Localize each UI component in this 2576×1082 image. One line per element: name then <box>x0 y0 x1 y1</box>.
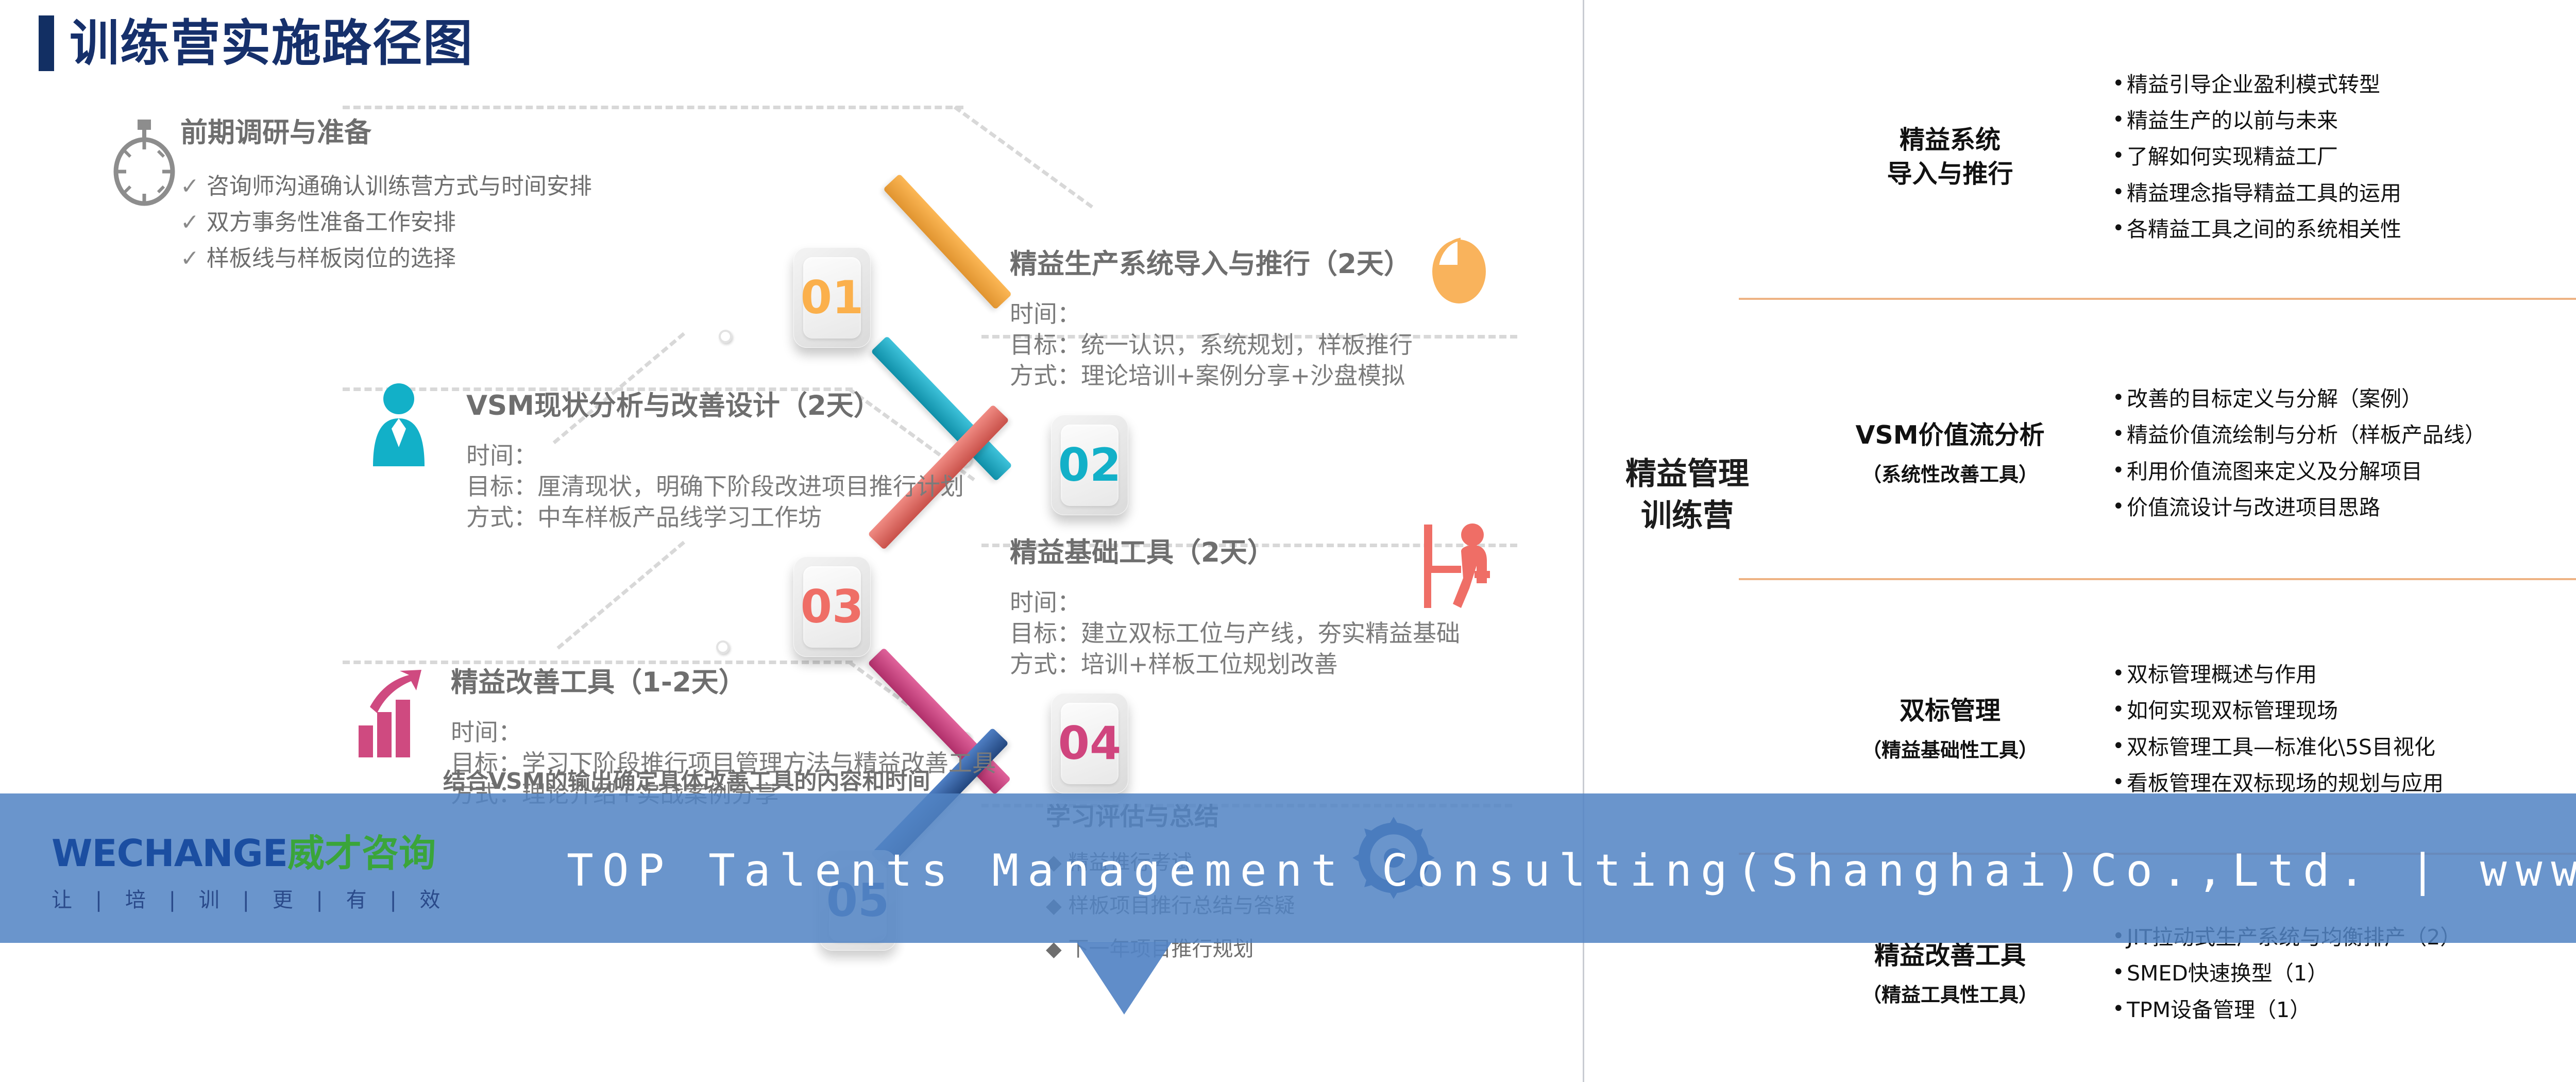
bar-growth-icon <box>355 670 433 760</box>
point-item: •了解如何实现精益工厂 <box>2112 144 2576 170</box>
step-01-heading: 精益生产系统导入与推行（2天） <box>1010 242 1413 281</box>
table-row[interactable]: 精益系统 导入与推行 •精益引导企业盈利模式转型 •精益生产的以前与未来 •了解… <box>1788 21 2576 294</box>
point-item: •精益生产的以前与未来 <box>2112 108 2576 133</box>
step-tile-02[interactable]: 02 <box>1051 415 1128 515</box>
logo-cn: 威才咨询 <box>287 832 436 875</box>
logo-wordmark: WECHANGE威才咨询 <box>52 835 449 872</box>
dashed-connector-0 <box>343 106 963 109</box>
step-04-note: 结合VSM的输出确定具体改善工具的内容和时间 <box>443 763 930 796</box>
row-points: •精益引导企业盈利模式转型 •精益生产的以前与未来 •了解如何实现精益工厂 •精… <box>2112 61 2576 253</box>
section-label-line1: 精益管理 <box>1602 453 1772 495</box>
ribbon-orange-top <box>883 174 1012 310</box>
section-label-line2: 训练营 <box>1602 495 1772 537</box>
point-item: •双标管理工具—标准化\5S目视化 <box>2112 735 2576 760</box>
title-accent-bar <box>39 15 54 71</box>
connector-dot-3 <box>716 640 730 654</box>
row-points: •改善的目标定义与分解（案例） •精益价值流绘制与分析（样板产品线） •利用价值… <box>2112 376 2576 531</box>
step-02-goal: 目标：厘清现状，明确下阶段改进项目推行计划 <box>466 471 964 502</box>
point-item: •TPM设备管理（1） <box>2112 998 2576 1023</box>
row-topic: 精益改善工具 （精益工具性工具） <box>1788 939 2112 1008</box>
step-prepare[interactable]: 前期调研与准备 ✓ 咨询师沟通确认训练营方式与时间安排 ✓ 双方事务性准备工作安… <box>180 111 592 273</box>
step-prepare-check-0: ✓ 咨询师沟通确认训练营方式与时间安排 <box>180 167 592 200</box>
step-03[interactable]: 精益基础工具（2天） 时间： 目标：建立双标工位与产线，夯实精益基础 方式：培训… <box>1010 531 1460 680</box>
step-number-03: 03 <box>801 584 863 630</box>
section-label: 精益管理 训练营 <box>1602 453 1772 537</box>
banner-text: TOP Talents Management Consulting(Shangh… <box>567 845 2576 897</box>
page-title: 训练营实施路径图 <box>39 15 473 71</box>
step-tile-01[interactable]: 01 <box>793 247 871 348</box>
step-prepare-heading: 前期调研与准备 <box>180 111 592 150</box>
company-logo[interactable]: WECHANGE威才咨询 让 | 培 | 训 | 更 | 有 | 效 <box>52 835 449 913</box>
pie-chart-icon <box>1427 234 1492 317</box>
point-item: •精益价值流绘制与分析（样板产品线） <box>2112 422 2576 448</box>
row-points: •双标管理概述与作用 •如何实现双标管理现场 •双标管理工具—标准化\5S目视化… <box>2112 651 2576 807</box>
step-02-time: 时间： <box>466 441 964 471</box>
page-title-text: 训练营实施路径图 <box>70 19 473 68</box>
step-01-goal: 目标：统一认识，系统规划，样板推行 <box>1010 330 1413 361</box>
step-03-method: 方式：培训+样板工位规划改善 <box>1010 649 1460 680</box>
step-number-04: 04 <box>1058 721 1121 766</box>
step-tile-03[interactable]: 03 <box>793 556 871 657</box>
step-tile-04[interactable]: 04 <box>1051 693 1128 793</box>
row-topic: VSM价值流分析 （系统性改善工具） <box>1788 418 2112 488</box>
step-01[interactable]: 精益生产系统导入与推行（2天） 时间： 目标：统一认识，系统规划，样板推行 方式… <box>1010 242 1413 391</box>
row-topic-line1: 精益系统 <box>1900 125 2001 155</box>
row-divider <box>1739 298 2576 300</box>
logo-en: WECHANGE <box>52 832 287 875</box>
person-icon <box>367 381 431 466</box>
dashed-connector-3b <box>556 541 685 650</box>
stopwatch-icon <box>111 117 178 210</box>
step-02-heading: VSM现状分析与改善设计（2天） <box>466 384 964 423</box>
point-item: •双标管理概述与作用 <box>2112 662 2576 687</box>
slide-canvas: 训练营实施路径图 前期调研与准备 ✓ 咨询师沟通确认训练营方式与时间安 <box>0 0 2576 1082</box>
worker-icon <box>1421 521 1496 612</box>
step-02[interactable]: VSM现状分析与改善设计（2天） 时间： 目标：厘清现状，明确下阶段改进项目推行… <box>466 384 964 533</box>
row-topic-sub: （精益工具性工具） <box>1788 982 2112 1008</box>
point-item: •改善的目标定义与分解（案例） <box>2112 386 2576 412</box>
connector-dot-1 <box>719 330 732 343</box>
step-number-01: 01 <box>801 275 863 320</box>
row-divider <box>1739 578 2576 580</box>
step-03-heading: 精益基础工具（2天） <box>1010 531 1460 570</box>
step-01-time: 时间： <box>1010 299 1413 330</box>
banner-pointer <box>1077 942 1172 1015</box>
point-item: •看板管理在双标现场的规划与应用 <box>2112 771 2576 796</box>
row-topic-line1: 精益改善工具 <box>1874 941 2026 970</box>
step-01-method: 方式：理论培训+案例分享+沙盘模拟 <box>1010 361 1413 392</box>
row-topic-line1: 双标管理 <box>1900 696 2001 725</box>
point-item: •价值流设计与改进项目思路 <box>2112 495 2576 520</box>
point-item: •精益引导企业盈利模式转型 <box>2112 72 2576 97</box>
step-number-02: 02 <box>1058 443 1121 488</box>
step-prepare-check-1: ✓ 双方事务性准备工作安排 <box>180 204 592 236</box>
step-03-goal: 目标：建立双标工位与产线，夯实精益基础 <box>1010 618 1460 649</box>
point-item: •SMED快速换型（1） <box>2112 961 2576 986</box>
point-item: •各精益工具之间的系统相关性 <box>2112 217 2576 242</box>
point-item: •利用价值流图来定义及分解项目 <box>2112 459 2576 484</box>
step-02-method: 方式：中车样板产品线学习工作坊 <box>466 502 964 533</box>
row-topic-sub: （精益基础性工具） <box>1788 737 2112 764</box>
step-03-time: 时间： <box>1010 587 1460 618</box>
dashed-connector-0b <box>954 106 1093 209</box>
row-topic: 双标管理 （精益基础性工具） <box>1788 694 2112 764</box>
row-topic-sub: （系统性改善工具） <box>1788 462 2112 488</box>
row-topic-line2: 导入与推行 <box>1887 159 2013 189</box>
logo-slogan: 让 | 培 | 训 | 更 | 有 | 效 <box>52 883 449 913</box>
step-04-heading: 精益改善工具（1-2天） <box>451 661 996 700</box>
row-topic-line1: VSM价值流分析 <box>1856 420 2045 450</box>
step-prepare-check-2: ✓ 样板线与样板岗位的选择 <box>180 240 592 273</box>
point-item: •精益理念指导精益工具的运用 <box>2112 181 2576 206</box>
row-topic: 精益系统 导入与推行 <box>1788 123 2112 191</box>
step-04-time: 时间： <box>451 717 996 748</box>
point-item: •如何实现双标管理现场 <box>2112 698 2576 723</box>
table-row[interactable]: VSM价值流分析 （系统性改善工具） •改善的目标定义与分解（案例） •精益价值… <box>1788 330 2576 577</box>
